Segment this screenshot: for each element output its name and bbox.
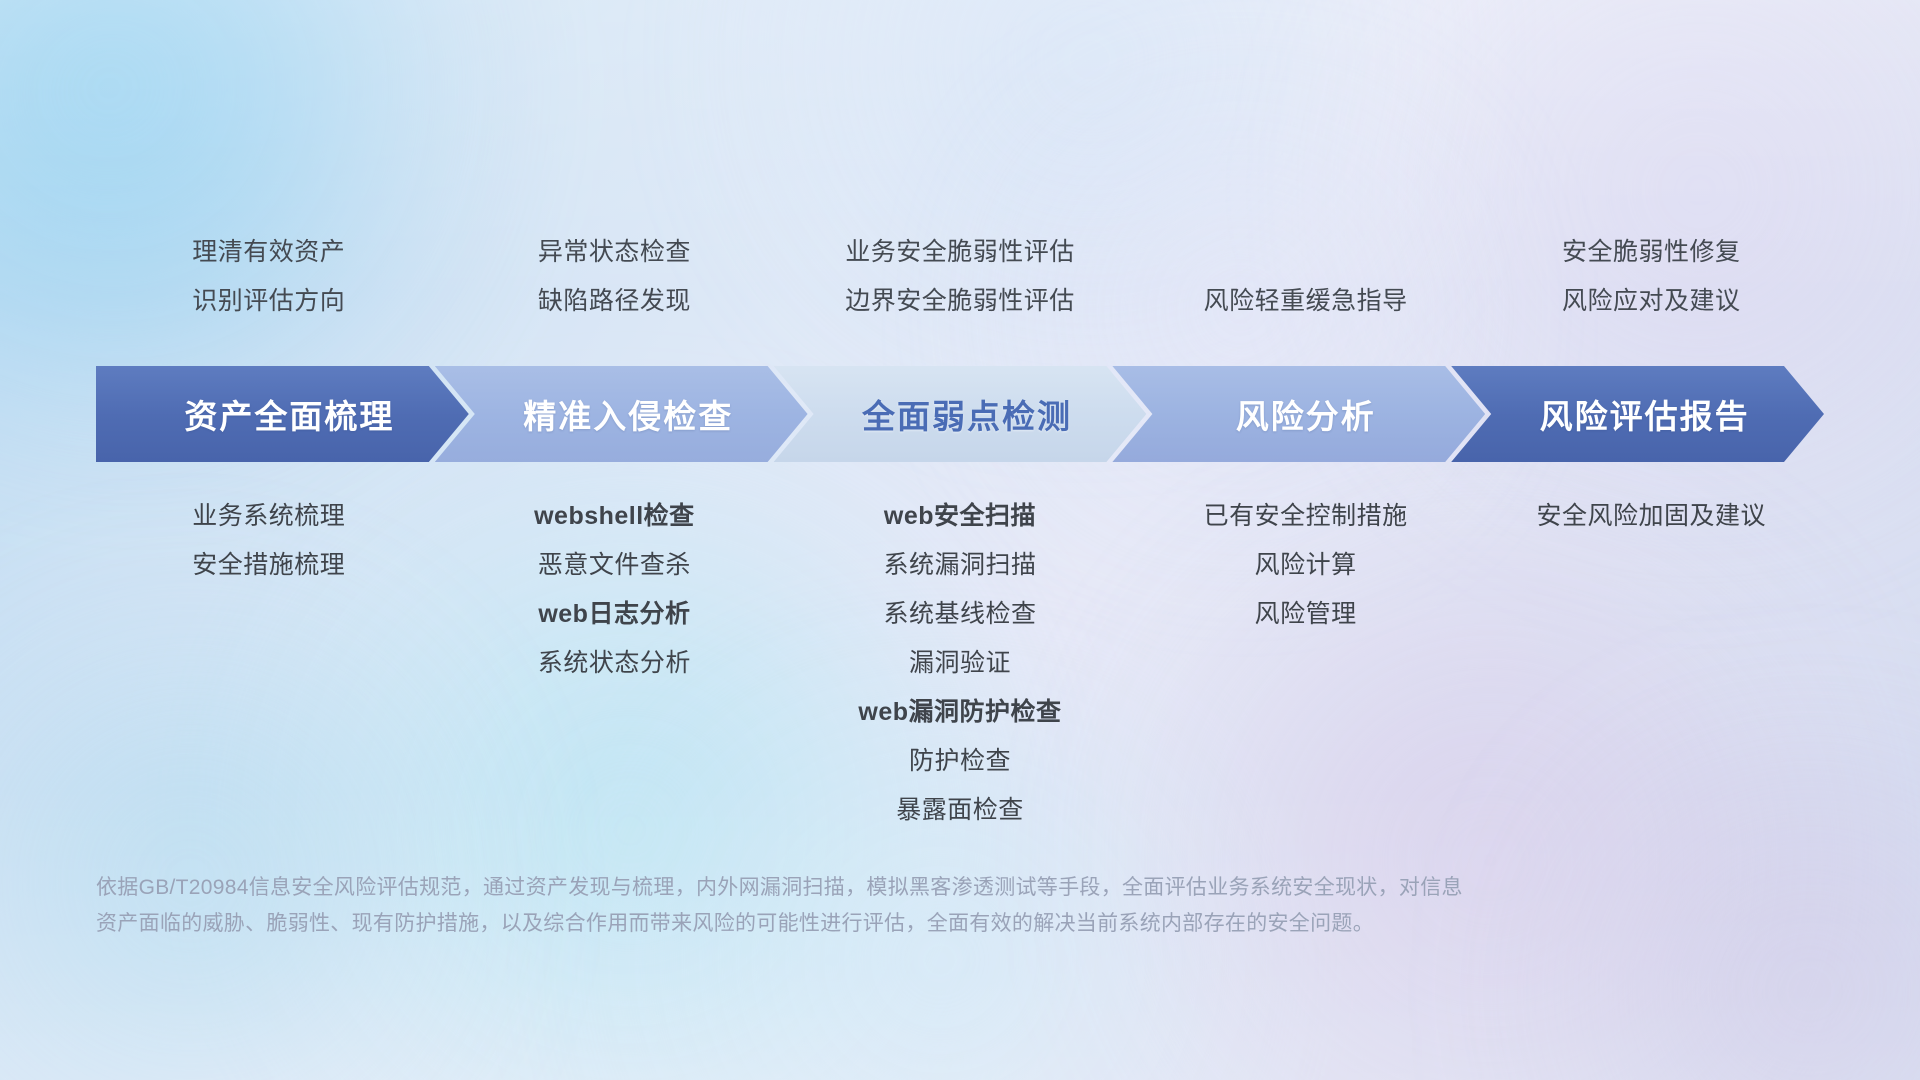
bottom-caption-item: 漏洞验证 — [787, 639, 1133, 688]
stage-title-2: 精准入侵检查 — [509, 390, 733, 438]
bottom-caption-item: 系统基线检查 — [787, 590, 1133, 639]
bottom-caption-group-4: 已有安全控制措施 风险计算 风险管理 — [1133, 492, 1479, 639]
top-caption-item: 风险应对及建议 — [1478, 277, 1824, 326]
top-caption-item: 异常状态检查 — [442, 228, 788, 277]
bottom-caption-item: webshell检查 — [442, 492, 788, 541]
stage-title-5: 风险评估报告 — [1526, 390, 1750, 438]
top-caption-item: 缺陷路径发现 — [442, 277, 788, 326]
bottom-caption-group-3: web安全扫描 系统漏洞扫描 系统基线检查 漏洞验证 web漏洞防护检查 防护检… — [787, 492, 1133, 835]
top-caption-item: 边界安全脆弱性评估 — [787, 277, 1133, 326]
stage-title-3: 全面弱点检测 — [848, 390, 1072, 438]
bottom-caption-group-2: webshell检查 恶意文件查杀 web日志分析 系统状态分析 — [442, 492, 788, 688]
top-caption-group-4: 风险轻重缓急指导 — [1133, 228, 1479, 326]
top-caption-item: 业务安全脆弱性评估 — [787, 228, 1133, 277]
infographic-canvas: 理清有效资产 识别评估方向 异常状态检查 缺陷路径发现 业务安全脆弱性评估 边界… — [0, 0, 1920, 1080]
stage-title-4: 风险分析 — [1222, 390, 1376, 438]
bottom-caption-row: 业务系统梳理 安全措施梳理 webshell检查 恶意文件查杀 web日志分析 … — [96, 492, 1824, 835]
bottom-caption-item: 系统漏洞扫描 — [787, 541, 1133, 590]
bottom-caption-item: 系统状态分析 — [442, 639, 788, 688]
bottom-caption-item: 已有安全控制措施 — [1133, 492, 1479, 541]
stage-chevron-3[interactable]: 全面弱点检测 — [774, 366, 1147, 462]
bottom-caption-item: 业务系统梳理 — [96, 492, 442, 541]
bottom-caption-item: 安全措施梳理 — [96, 541, 442, 590]
top-caption-group-5: 安全脆弱性修复 风险应对及建议 — [1478, 228, 1824, 326]
footer-description: 依据GB/T20984信息安全风险评估规范，通过资产发现与梳理，内外网漏洞扫描，… — [96, 870, 1616, 942]
stage-chevron-2[interactable]: 精准入侵检查 — [435, 366, 808, 462]
bottom-caption-item: web漏洞防护检查 — [787, 688, 1133, 737]
top-caption-group-1: 理清有效资产 识别评估方向 — [96, 228, 442, 326]
bottom-caption-group-5: 安全风险加固及建议 — [1478, 492, 1824, 541]
bottom-caption-item: 风险管理 — [1133, 590, 1479, 639]
stage-title-1: 资产全面梳理 — [170, 390, 394, 438]
bottom-caption-item: 暴露面检查 — [787, 786, 1133, 835]
bottom-caption-item: web安全扫描 — [787, 492, 1133, 541]
footer-line-2: 资产面临的威胁、脆弱性、现有防护措施，以及综合作用而带来风险的可能性进行评估，全… — [96, 906, 1616, 942]
top-caption-item: 理清有效资产 — [96, 228, 442, 277]
process-chevron-banner: 资产全面梳理 精准入侵检查 全面弱点检测 风险分析 风险评估报告 — [96, 366, 1824, 462]
top-caption-group-2: 异常状态检查 缺陷路径发现 — [442, 228, 788, 326]
top-caption-item: 识别评估方向 — [96, 277, 442, 326]
bottom-caption-group-1: 业务系统梳理 安全措施梳理 — [96, 492, 442, 590]
top-caption-group-3: 业务安全脆弱性评估 边界安全脆弱性评估 — [787, 228, 1133, 326]
bottom-caption-item: 防护检查 — [787, 737, 1133, 786]
stage-chevron-5[interactable]: 风险评估报告 — [1451, 366, 1824, 462]
top-caption-row: 理清有效资产 识别评估方向 异常状态检查 缺陷路径发现 业务安全脆弱性评估 边界… — [96, 228, 1824, 326]
stage-chevron-1[interactable]: 资产全面梳理 — [96, 366, 469, 462]
bottom-caption-item: web日志分析 — [442, 590, 788, 639]
bottom-caption-item: 风险计算 — [1133, 541, 1479, 590]
top-caption-item: 风险轻重缓急指导 — [1133, 277, 1479, 326]
bottom-caption-item: 恶意文件查杀 — [442, 541, 788, 590]
bottom-caption-item: 安全风险加固及建议 — [1478, 492, 1824, 541]
top-caption-item: 安全脆弱性修复 — [1478, 228, 1824, 277]
stage-chevron-4[interactable]: 风险分析 — [1112, 366, 1485, 462]
footer-line-1: 依据GB/T20984信息安全风险评估规范，通过资产发现与梳理，内外网漏洞扫描，… — [96, 870, 1616, 906]
